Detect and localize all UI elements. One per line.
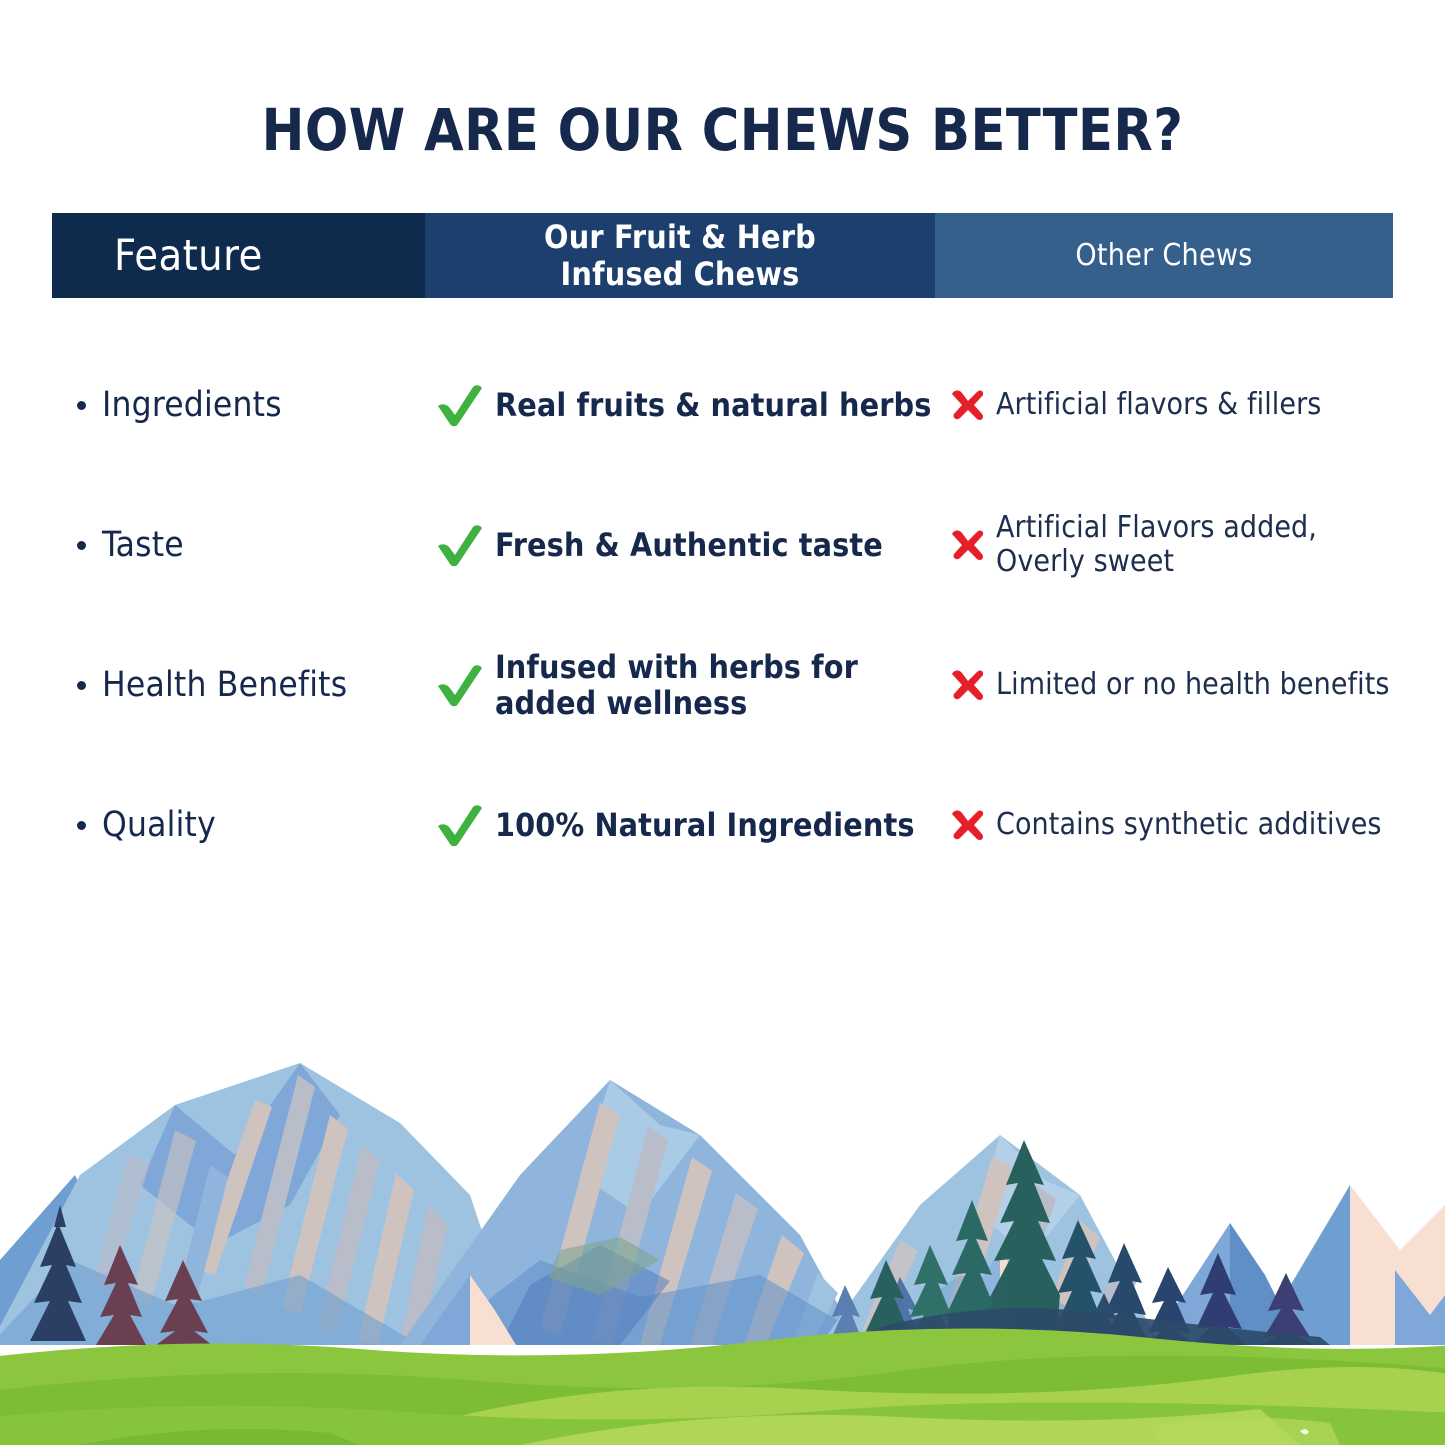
table-row: Health Benefits Infused with herbs for a… — [52, 615, 1393, 755]
our-chews-cell: Fresh & Authentic taste — [425, 519, 935, 571]
our-chews-text: Fresh & Authentic taste — [495, 527, 883, 563]
bullet-icon — [77, 541, 86, 550]
table-row: Taste Fresh & Authentic taste — [52, 475, 1393, 615]
other-chews-text: Artificial flavors & fillers — [996, 388, 1321, 422]
mountain-meadow-illustration — [0, 1045, 1445, 1445]
feature-cell: Health Benefits — [52, 665, 425, 705]
check-icon — [433, 379, 485, 431]
bullet-icon — [77, 821, 86, 830]
other-chews-cell: Limited or no health benefits — [935, 665, 1393, 705]
feature-cell: Taste — [52, 525, 425, 565]
cross-icon — [947, 665, 987, 705]
other-chews-text: Artificial Flavors added, Overly sweet — [996, 511, 1393, 578]
table-header-other-chews-label: Other Chews — [1075, 238, 1252, 273]
feature-label: Taste — [102, 525, 184, 565]
our-chews-cell: 100% Natural Ingredients — [425, 799, 935, 851]
our-chews-cell: Infused with herbs for added wellness — [425, 649, 935, 722]
feature-cell: Quality — [52, 805, 425, 845]
feature-label: Quality — [102, 805, 216, 845]
table-header-feature: Feature — [52, 213, 425, 298]
table-header-our-chews-line1: Our Fruit & Herb — [544, 218, 816, 256]
check-icon — [433, 659, 485, 711]
cross-icon — [947, 525, 987, 565]
table-header-our-chews-label: Our Fruit & Herb Infused Chews — [544, 219, 816, 292]
feature-label: Health Benefits — [102, 665, 347, 705]
bullet-icon — [77, 681, 86, 690]
our-chews-text: Infused with herbs for added wellness — [495, 649, 935, 722]
check-icon — [433, 519, 485, 571]
table-header-our-chews: Our Fruit & Herb Infused Chews — [425, 213, 935, 298]
table-header-row: Feature Our Fruit & Herb Infused Chews O… — [52, 213, 1393, 298]
other-chews-cell: Artificial flavors & fillers — [935, 385, 1393, 425]
feature-label: Ingredients — [102, 385, 282, 425]
table-header-feature-label: Feature — [114, 231, 263, 281]
table-body: Ingredients Real fruits & natural herbs — [52, 335, 1393, 895]
our-chews-cell: Real fruits & natural herbs — [425, 379, 935, 431]
comparison-table: Feature Our Fruit & Herb Infused Chews O… — [52, 213, 1393, 298]
cross-icon — [947, 805, 987, 845]
check-icon — [433, 799, 485, 851]
table-row: Quality 100% Natural Ingredients — [52, 755, 1393, 895]
table-row: Ingredients Real fruits & natural herbs — [52, 335, 1393, 475]
other-chews-text: Limited or no health benefits — [996, 668, 1390, 702]
table-header-our-chews-line2: Infused Chews — [560, 255, 799, 293]
other-chews-text: Contains synthetic additives — [996, 808, 1382, 842]
our-chews-text: Real fruits & natural herbs — [495, 387, 932, 423]
cross-icon — [947, 385, 987, 425]
other-chews-cell: Artificial Flavors added, Overly sweet — [935, 511, 1393, 578]
feature-cell: Ingredients — [52, 385, 425, 425]
page-title: HOW ARE OUR CHEWS BETTER? — [14, 96, 1430, 164]
other-chews-cell: Contains synthetic additives — [935, 805, 1393, 845]
our-chews-text: 100% Natural Ingredients — [495, 807, 915, 843]
bullet-icon — [77, 401, 86, 410]
table-header-other-chews: Other Chews — [935, 213, 1393, 298]
page-root: HOW ARE OUR CHEWS BETTER? Feature Our Fr… — [0, 0, 1445, 1445]
